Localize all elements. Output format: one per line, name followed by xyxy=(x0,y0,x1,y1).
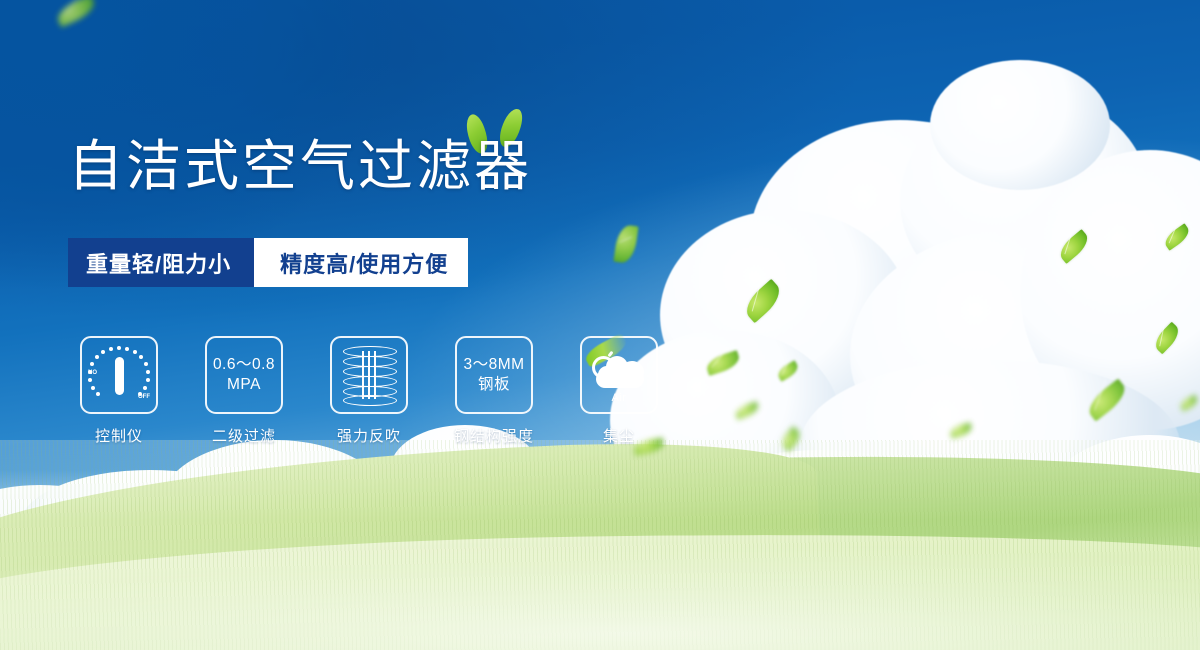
feature-icon-box: 3～8MM 钢板 xyxy=(455,336,533,414)
pressure-value-line2: MPA xyxy=(213,375,275,395)
feature-item-controller[interactable]: NO OFF 控制仪 xyxy=(80,336,158,446)
feature-item-backblow[interactable]: 强力反吹 xyxy=(330,336,408,446)
feature-icon-box: NO OFF xyxy=(80,336,158,414)
grass-light-wash xyxy=(0,440,1200,650)
feature-label: 强力反吹 xyxy=(337,425,401,446)
gauge-max-label: OFF xyxy=(138,394,150,400)
pressure-value-line1: 0.6～0.8 xyxy=(213,355,275,375)
feature-label: 控制仪 xyxy=(95,425,143,446)
feature-label: 钢结构强度 xyxy=(454,425,534,446)
feature-icon-box: 0.6～0.8 MPA xyxy=(205,336,283,414)
gauge-needle xyxy=(115,357,124,395)
feature-icon-row: NO OFF 控制仪 0.6～0.8 MPA 二级过滤 xyxy=(80,336,658,446)
pressure-text-icon: 0.6～0.8 MPA xyxy=(213,355,275,395)
feature-icon-box xyxy=(330,336,408,414)
feature-item-secondary-filter[interactable]: 0.6～0.8 MPA 二级过滤 xyxy=(205,336,283,446)
cloud-air-icon: Air xyxy=(588,348,650,402)
feature-icon-box: Air xyxy=(580,336,658,414)
steel-value-line1: 3～8MM xyxy=(463,355,524,375)
coil-filter-icon xyxy=(343,346,395,404)
feature-label: 二级过滤 xyxy=(212,425,276,446)
air-label: Air xyxy=(588,392,650,404)
product-hero-banner: 自洁式空气过滤器 重量轻/阻力小 精度高/使用方便 xyxy=(0,0,1200,650)
subtitle-badge-right: 精度高/使用方便 xyxy=(254,238,468,287)
subtitle-badge-left: 重量轻/阻力小 xyxy=(68,238,255,287)
steel-value-line2: 钢板 xyxy=(463,375,524,395)
page-title: 自洁式空气过滤器 xyxy=(68,139,532,194)
steel-text-icon: 3～8MM 钢板 xyxy=(463,355,524,395)
gauge-icon: NO OFF xyxy=(88,346,150,404)
gauge-min-label: NO xyxy=(88,370,97,376)
grass-field xyxy=(0,440,1200,650)
subtitle-badge-bar: 重量轻/阻力小 精度高/使用方便 xyxy=(68,238,468,287)
feature-item-dust-collection[interactable]: Air 集尘 xyxy=(580,336,658,446)
feature-item-steel-strength[interactable]: 3～8MM 钢板 钢结构强度 xyxy=(455,336,533,446)
feature-label: 集尘 xyxy=(603,425,635,446)
